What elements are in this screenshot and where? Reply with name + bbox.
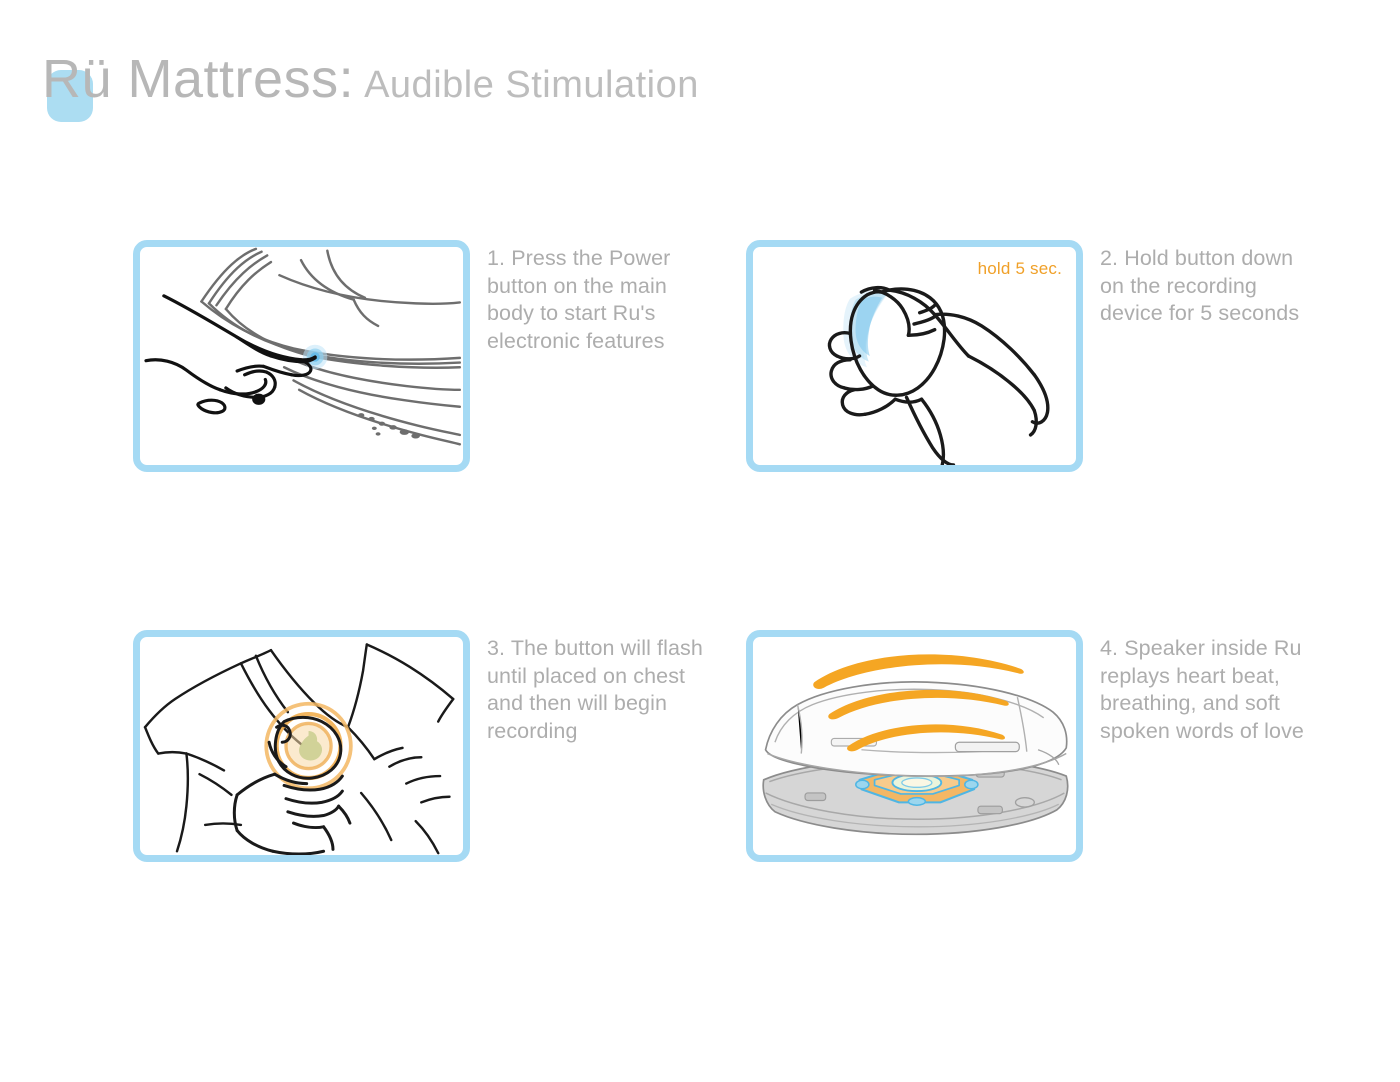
step-2-hold-note: hold 5 sec. [978, 259, 1062, 279]
steps-container: 1. Press the Power button on the main bo… [0, 0, 1400, 1082]
device-on-chest-recording-illustration [140, 637, 463, 855]
step-2: hold 5 sec. 2. Hold button down on the r… [746, 240, 1310, 472]
step-1: 1. Press the Power button on the main bo… [133, 240, 703, 472]
step-3: 3. The button will flash until placed on… [133, 630, 703, 862]
step-4: 4. Speaker inside Ru replays heart beat,… [746, 630, 1310, 862]
step-1-illustration-panel [133, 240, 470, 472]
step-4-caption: 4. Speaker inside Ru replays heart beat,… [1100, 630, 1310, 745]
step-2-illustration-panel: hold 5 sec. [746, 240, 1083, 472]
step-3-illustration-panel [133, 630, 470, 862]
step-4-illustration-panel [746, 630, 1083, 862]
step-2-caption: 2. Hold button down on the recording dev… [1100, 240, 1310, 328]
page-title: Rü Mattress: [42, 52, 354, 106]
mattress-speaker-soundwaves-illustration [753, 637, 1076, 855]
hand-gripping-recording-device-illustration [753, 247, 1076, 465]
step-1-caption: 1. Press the Power button on the main bo… [487, 240, 703, 355]
page-subtitle: Audible Stimulation [364, 66, 699, 104]
hand-pressing-power-button-illustration [140, 247, 463, 465]
step-3-caption: 3. The button will flash until placed on… [487, 630, 703, 745]
